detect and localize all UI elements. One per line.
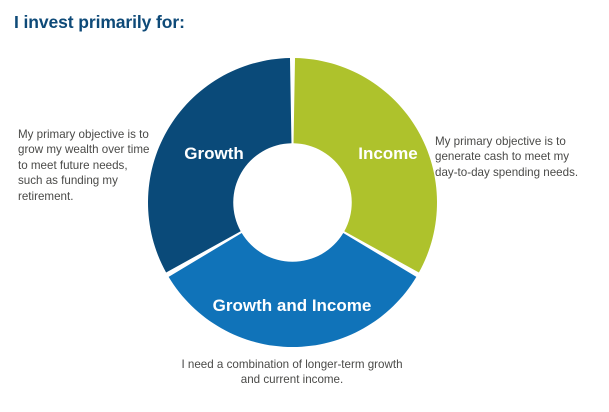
callout-growth-and-income: I need a combination of longer-term grow… bbox=[172, 357, 412, 388]
slice-label-income[interactable]: Income bbox=[340, 144, 436, 164]
callout-income: My primary objective is to generate cash… bbox=[435, 134, 585, 180]
page-title: I invest primarily for: bbox=[14, 12, 185, 33]
slice-label-growth[interactable]: Growth bbox=[166, 144, 262, 164]
slice-label-growth-and-income[interactable]: Growth and Income bbox=[186, 296, 398, 316]
infographic-page: I invest primarily for: Growth Income Gr… bbox=[0, 0, 609, 412]
callout-growth: My primary objective is to grow my wealt… bbox=[18, 127, 154, 204]
donut-slice-growth[interactable] bbox=[148, 58, 291, 273]
donut-slice-income[interactable] bbox=[294, 58, 437, 273]
